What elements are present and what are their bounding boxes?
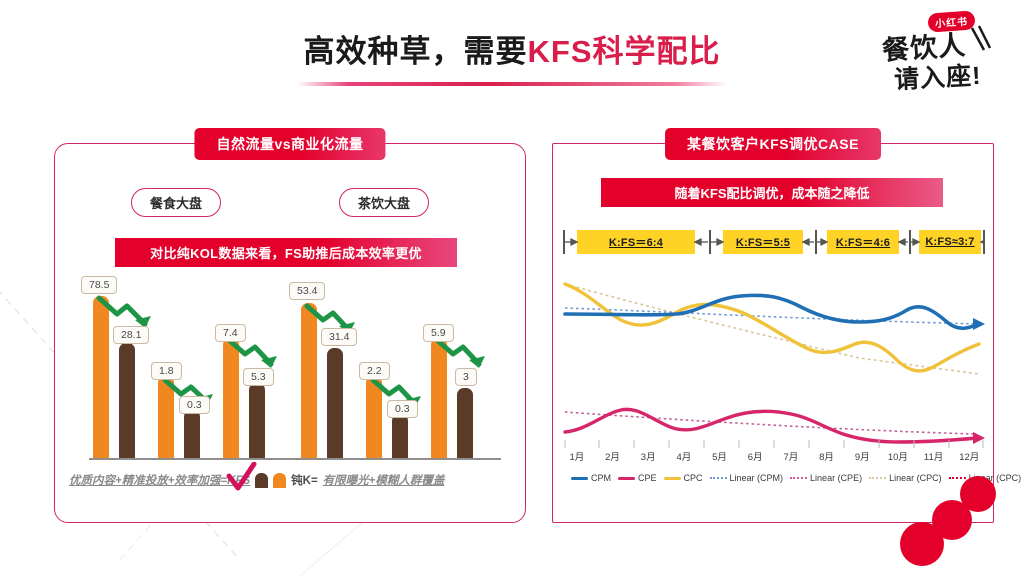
bar-label-g1-2-kfs: 1.8 [151, 362, 182, 380]
title-underline [297, 82, 727, 86]
bar-label-g2-1-dun: 31.4 [321, 328, 357, 346]
page-title-accent: KFS科学配比 [528, 34, 721, 69]
x-tick-9: 9月 [844, 449, 880, 465]
bar-label-g2-3-dun: 3 [455, 368, 477, 386]
bar-dun-g1-3 [249, 383, 265, 458]
left-panel-tab: 自然流量vs商业化流量 [194, 128, 385, 160]
page-title: 高效种草，需要KFS科学配比 [0, 26, 1024, 71]
bar-label-g1-2-dun: 0.3 [179, 396, 210, 414]
bar-label-g2-3-kfs: 5.9 [423, 324, 454, 342]
checkmark-icon [225, 462, 259, 496]
x-tick-6: 6月 [737, 449, 773, 465]
bar-label-g1-3-dun: 5.3 [243, 368, 274, 386]
bar-label-g2-2-dun: 0.3 [387, 400, 418, 418]
bar-label-g1-3-kfs: 7.4 [215, 324, 246, 342]
x-tick-8: 8月 [809, 449, 845, 465]
legend-swatch-cpe [618, 477, 635, 480]
bar-dun-g1-2 [184, 410, 200, 458]
legend-dun-prefix: 钝K= [291, 472, 318, 488]
decorative-circles [898, 474, 1018, 584]
pill-tea-market: 茶饮大盘 [339, 188, 429, 217]
line-chart [559, 262, 987, 448]
ratio-band-row: K:FS＝6:4 K:FS＝5:5 K:FS＝4:6 K:FS≈3:7 [561, 230, 985, 256]
legend-label-linear-cpe: Linear (CPE) [810, 473, 862, 483]
legend-item-linear-cpe: Linear (CPE) [790, 473, 862, 483]
legend-item-cpc: CPC [664, 473, 703, 483]
right-panel: 某餐饮客户KFS调优CASE 随着KFS配比调优，成本随之降低 K:FS＝6:4… [552, 143, 994, 523]
bar-dun-g2-1 [327, 348, 343, 458]
x-axis-labels: 1月 2月 3月 4月 5月 6月 7月 8月 9月 10月 11月 12月 [559, 449, 987, 465]
left-panel: 自然流量vs商业化流量 餐食大盘 茶饮大盘 对比纯KOL数据来看，FS助推后成本… [54, 143, 526, 523]
bar-dun-g2-3 [457, 388, 473, 458]
bar-label-g2-1-kfs: 53.4 [289, 282, 325, 300]
legend-swatch-linear-cpc [869, 477, 886, 479]
legend-item-cpe: CPE [618, 473, 657, 483]
page-title-black: 高效种草，需要 [304, 34, 528, 69]
bar-label-g1-1-kfs: 78.5 [81, 276, 117, 294]
x-tick-2: 2月 [595, 449, 631, 465]
brand-logo: 小红书 餐饮人 请入座! [880, 6, 1006, 106]
bar-label-g1-1-dun: 28.1 [113, 326, 149, 344]
legend-label-linear-cpm: Linear (CPM) [730, 473, 784, 483]
x-tick-10: 10月 [880, 449, 916, 465]
legend-swatch-cpm [571, 477, 588, 480]
bar-chart: 78.5 28.1 1.8 0.3 7.4 5.3 53.4 31.4 2.2 … [73, 284, 513, 460]
legend-item-linear-cpm: Linear (CPM) [710, 473, 784, 483]
logo-chopsticks-icon [880, 6, 1006, 106]
x-tick-1: 1月 [559, 449, 595, 465]
left-panel-banner: 对比纯KOL数据来看，FS助推后成本效率更优 [115, 238, 457, 267]
x-tick-11: 11月 [916, 449, 952, 465]
legend-swatch-linear-cpm [710, 477, 727, 479]
bar-dun-g1-1 [119, 343, 135, 458]
pill-restaurant-market: 餐食大盘 [131, 188, 221, 217]
x-tick-4: 4月 [666, 449, 702, 465]
left-panel-legend: 优质内容+精准投放+效率加强=KFS 钝K= 有限曝光+模糊人群覆盖 [69, 472, 519, 488]
x-tick-12: 12月 [951, 449, 987, 465]
x-tick-7: 7月 [773, 449, 809, 465]
legend-label-cpm: CPM [591, 473, 611, 483]
x-tick-3: 3月 [630, 449, 666, 465]
ratio-arrows-icon [561, 230, 985, 254]
legend-dun-formula: 有限曝光+模糊人群覆盖 [323, 472, 445, 488]
legend-label-cpc: CPC [684, 473, 703, 483]
legend-swatch-kfs [273, 473, 286, 488]
bar-label-g2-2-kfs: 2.2 [359, 362, 390, 380]
legend-swatch-cpc [664, 477, 681, 480]
legend-label-cpe: CPE [638, 473, 657, 483]
legend-kfs-formula: 优质内容+精准投放+效率加强=KFS [69, 472, 250, 488]
right-panel-banner: 随着KFS配比调优，成本随之降低 [601, 178, 943, 207]
bar-dun-g2-2 [392, 414, 408, 458]
right-panel-tab: 某餐饮客户KFS调优CASE [665, 128, 881, 160]
circle-3 [960, 476, 996, 512]
legend-item-cpm: CPM [571, 473, 611, 483]
chart-baseline [89, 458, 501, 460]
legend-swatch-linear-cpe [790, 477, 807, 479]
x-tick-5: 5月 [702, 449, 738, 465]
